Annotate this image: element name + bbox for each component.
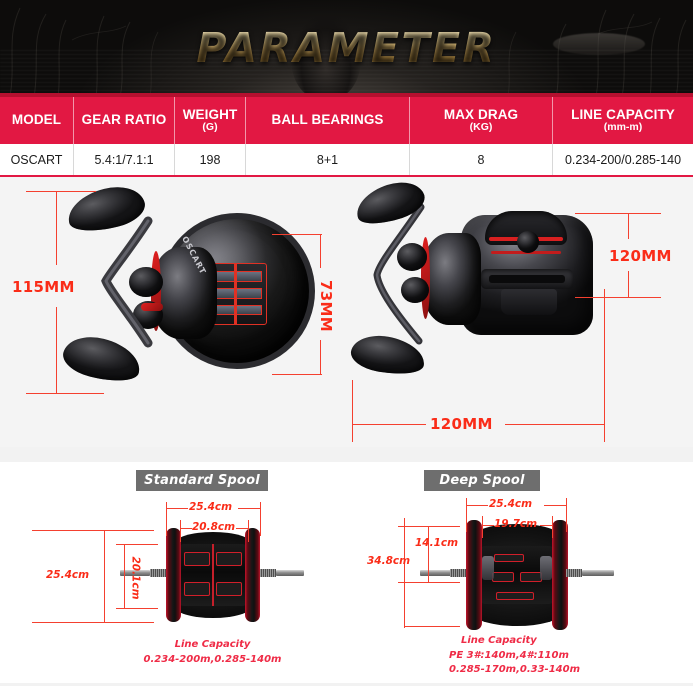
dim-line-120mm-h-left [352,380,353,442]
dim-label-115mm: 115MM [12,278,75,296]
standard-capacity-block: Line Capacity 0.234-200m,0.285-140m [95,638,330,667]
header-cell-model: MODEL [0,97,74,144]
dim-label-120mm-width: 120MM [430,415,493,433]
dim-line-120mm-h-right [604,289,605,442]
cell-model: OSCART [0,144,74,175]
std-dim-label-25-4-height: 25.4cm [46,569,89,581]
cell-weight: 198 [175,144,246,175]
spool-port [184,582,210,596]
standard-spool-tag: Standard Spool [136,470,268,491]
table-row: OSCART 5.4:1/7.1:1 198 8+1 8 0.234-200/0… [0,144,693,177]
spool-flange-left [166,528,181,622]
header-label: MAX DRAG [444,108,518,122]
spool-illustration-standard [148,526,278,624]
deep-dim-v-outer-left [466,498,467,532]
std-dim-v-inner-right [248,520,249,542]
spool-shaft-knurl-right [566,569,582,577]
dim-guide-73-top [272,234,322,235]
spool-highlight-left [482,556,494,580]
std-dim-h-inner-bottom [116,608,158,609]
dim-guide-right-mid [575,297,661,298]
spool-port [496,592,534,600]
deep-dim-label-34-8: 34.8cm [367,555,410,567]
spool-center-post [234,263,237,325]
cell-ball-bearings: 8+1 [246,144,410,175]
capacity-title: Line Capacity [449,634,689,649]
capacity-line: PE 3#:140m,4#:110m [449,649,689,664]
dim-line-73mm-lower [320,340,321,374]
product-spec-page: PARAMETER MODEL GEAR RATIO WEIGHT (G) BA… [0,0,693,693]
header-label: WEIGHT [183,108,238,122]
deep-dim-label-25-4-width: 25.4cm [489,498,532,510]
std-dim-label-20-8-width: 20.8cm [192,521,235,533]
spool-comparison-panel: Standard Spool 25.4cm 20.8cm [0,462,693,686]
header-cell-line-capacity: LINE CAPACITY (mm-m) [553,97,693,144]
deep-dim-v-outer-right [566,498,567,532]
dim-guide-bottom-left [26,393,104,394]
deep-dim-h-outer-seg-r [544,505,566,506]
header-cell-max-drag: MAX DRAG (KG) [410,97,553,144]
deep-dim-h-inner-seg-r [540,525,552,526]
deep-dim-v-34-8 [404,518,405,628]
deep-dim-h-348-bottom [404,626,460,627]
spool-shaft-left [420,570,454,576]
header-unit: (G) [202,122,217,133]
std-dim-v-20-1-height [124,544,125,608]
hero-banner: PARAMETER [0,0,693,97]
std-dim-v-inner-left [180,520,181,542]
std-dim-h-outer-seg-l [166,508,188,509]
header-cell-gear-ratio: GEAR RATIO [74,97,175,144]
header-label: BALL BEARINGS [271,113,383,127]
cell-gear-ratio: 5.4:1/7.1:1 [74,144,175,175]
deep-dim-h-inner-seg-l [482,525,494,526]
spool-flange-right [245,528,260,622]
capacity-title: Line Capacity [95,638,330,653]
dim-line-115mm-upper [56,191,57,265]
dim-line-115mm-lower [56,307,57,393]
spool-shaft-knurl-left [150,569,166,577]
tension-cap [517,231,539,253]
spool-shaft-knurl-left [450,569,466,577]
header-cell-ball-bearings: BALL BEARINGS [246,97,410,144]
reel-illustration-right [355,185,615,400]
dim-guide-right-top [575,213,661,214]
reel-dimension-panel: OSCART 115MM 73MM [0,177,693,462]
spool-shaft-right [276,570,304,576]
dim-label-120mm-height: 120MM [609,247,672,265]
header-unit: (mm-m) [604,122,643,133]
header-unit: (KG) [470,122,493,133]
deep-spool-tag: Deep Spool [424,470,540,491]
spool-illustration-deep [452,520,582,630]
cell-line-capacity: 0.234-200/0.285-140 [553,144,693,175]
deep-dim-label-14-1: 14.1cm [415,537,458,549]
spool-center-line [212,544,214,606]
deep-dim-label-19-7-width: 19.7cm [494,518,537,530]
reel-foot [501,289,557,315]
deep-dim-v-14-1 [428,526,429,582]
std-dim-h-inner-top [116,544,158,545]
deep-dim-h-141-bottom [398,582,460,583]
hero-underline [0,93,693,97]
std-dim-v-25-4-height [104,530,105,622]
dim-line-120mm-v-upper [628,213,629,239]
dim-guide-73-bottom [272,374,322,375]
spool-port [520,572,542,582]
capacity-line: 0.285-170m,0.33-140m [449,663,689,678]
dim-line-73mm-upper [320,234,321,268]
spec-table-header-row: MODEL GEAR RATIO WEIGHT (G) BALL BEARING… [0,97,693,144]
deep-dim-v-inner-left [482,516,483,538]
gearbox-side [421,233,481,325]
deep-dim-v-inner-right [552,516,553,538]
cell-max-drag: 8 [410,144,553,175]
header-label: MODEL [12,113,61,127]
std-dim-label-20-1-height: 20.1cm [130,556,142,599]
header-label: GEAR RATIO [82,113,167,127]
bottom-strip [0,683,693,686]
level-wind-slot [489,275,565,283]
spool-port [216,552,242,566]
header-label: LINE CAPACITY [571,108,675,122]
spool-port [184,552,210,566]
std-dim-v-outer-right [260,502,261,536]
std-dim-h-side-bottom [32,622,154,623]
dim-guide-bottom-right-seg [505,424,604,425]
dim-label-73mm: 73MM [317,280,335,332]
dim-guide-top-left [26,191,96,192]
std-dim-h-inner-seg-l [180,528,192,529]
std-dim-h-side-top [32,530,154,531]
handle-arm-svg [90,215,156,349]
header-cell-weight: WEIGHT (G) [175,97,246,144]
spool-port [494,554,524,562]
spool-highlight-right [540,556,552,580]
reel-illustration-left: OSCART [55,189,310,394]
deep-dim-h-outer-seg-l [466,505,488,506]
dim-line-120mm-v-lower [628,271,629,297]
deep-capacity-block: Line Capacity PE 3#:140m,4#:110m 0.285-1… [449,634,689,678]
std-dim-h-inner-seg-r [236,528,248,529]
dim-guide-bottom-left-seg [352,424,426,425]
std-dim-h-outer-seg-r [238,508,260,509]
handle-arm [90,215,156,349]
spool-shaft-knurl-right [260,569,276,577]
std-dim-label-25-4-width: 25.4cm [189,501,232,513]
page-title: PARAMETER [0,24,693,72]
capacity-line: 0.234-200m,0.285-140m [95,653,330,668]
spool-port [216,582,242,596]
spool-port [492,572,514,582]
spool-flange-left [466,520,482,630]
spool-shaft-right [582,570,614,576]
